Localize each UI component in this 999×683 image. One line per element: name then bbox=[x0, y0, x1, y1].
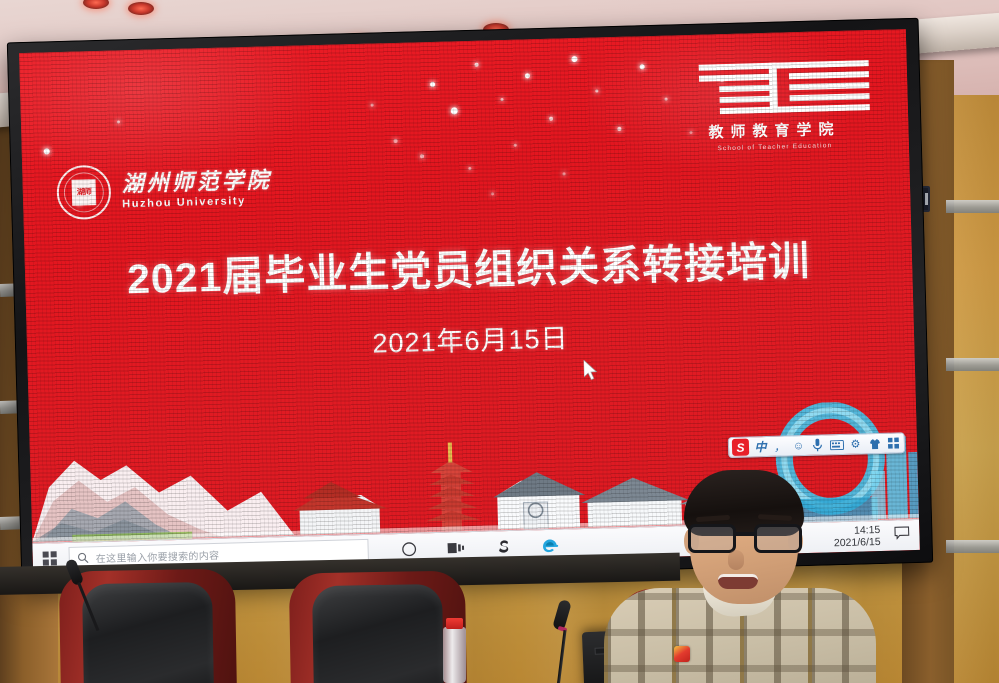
mouse-cursor bbox=[584, 360, 600, 381]
gooseneck-microphone bbox=[556, 600, 566, 683]
party-emblem-pin bbox=[674, 646, 690, 662]
soft-keyboard-icon[interactable] bbox=[829, 437, 844, 452]
search-icon bbox=[78, 552, 89, 563]
presenter-mouth bbox=[718, 574, 758, 589]
voice-input-icon[interactable] bbox=[810, 437, 825, 452]
seal-inner-text: 湖师 bbox=[72, 179, 97, 206]
university-name-cn: 湖州师范学院 bbox=[121, 169, 272, 195]
sogou-input-icon[interactable] bbox=[492, 535, 514, 557]
conference-chair bbox=[59, 568, 237, 683]
university-name-en: Huzhou University bbox=[122, 195, 272, 210]
slide-title: 2021届毕业生党员组织关系转接培训 bbox=[24, 224, 912, 308]
eyeglasses bbox=[688, 524, 802, 554]
windows-logo-icon bbox=[43, 552, 57, 566]
ceiling-downlight bbox=[128, 2, 154, 15]
wall-metal-strip bbox=[946, 540, 999, 553]
toolbox-icon[interactable]: ⚙ bbox=[848, 436, 863, 451]
university-logo: 湖师 湖州师范学院 Huzhou University bbox=[56, 160, 272, 220]
chinese-mode-icon[interactable]: 中 bbox=[753, 439, 768, 454]
cortana-icon[interactable] bbox=[398, 538, 420, 560]
conference-chair bbox=[289, 570, 467, 683]
wall-metal-strip bbox=[946, 358, 999, 371]
more-apps-icon[interactable] bbox=[886, 435, 901, 450]
skin-icon[interactable] bbox=[867, 436, 882, 451]
presenter bbox=[612, 470, 892, 683]
emoji-icon[interactable]: ☺ bbox=[791, 438, 806, 453]
photo-scene: 湖师 湖州师范学院 Huzhou University bbox=[0, 0, 999, 683]
water-bottle bbox=[443, 627, 466, 683]
sogou-logo-icon[interactable]: S bbox=[732, 439, 749, 456]
university-seal-icon: 湖师 bbox=[56, 165, 111, 220]
task-view-icon[interactable] bbox=[445, 537, 467, 559]
school-name-cn: 教师教育学院 bbox=[678, 117, 870, 143]
start-button[interactable] bbox=[33, 551, 67, 565]
notification-center-icon[interactable] bbox=[894, 526, 909, 544]
wall-metal-strip bbox=[946, 200, 999, 213]
presenter-nose bbox=[728, 550, 744, 570]
edge-browser-icon[interactable] bbox=[539, 534, 561, 556]
bottle-cap bbox=[446, 618, 463, 629]
punctuation-icon[interactable]: ， bbox=[772, 438, 787, 453]
school-logo: 教师教育学院 School of Teacher Education bbox=[677, 60, 871, 153]
te-mark-icon bbox=[677, 60, 870, 117]
slide-date: 2021年6月15日 bbox=[27, 307, 915, 370]
